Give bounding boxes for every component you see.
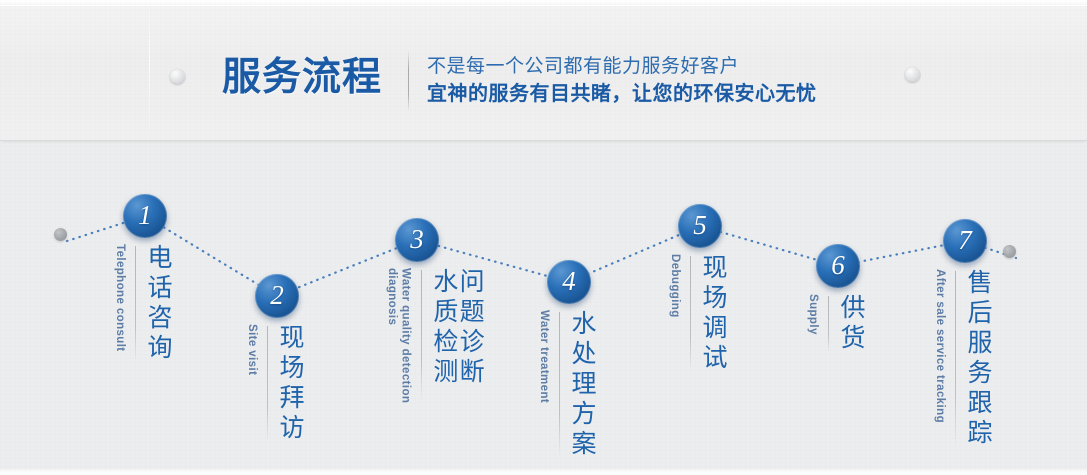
flow-step-label-en-group: Water quality detectiondiagnosis — [384, 268, 412, 403]
flow-step-number: 7 — [958, 227, 972, 254]
flow-step-label-divider — [135, 246, 136, 362]
flow-step-label-cn-group: 水处理方案 — [569, 310, 595, 460]
flow-step-label-divider — [421, 270, 422, 401]
flow-step-number: 1 — [138, 202, 152, 229]
flow-step-label-cn-group: 问题诊断水质检测 — [431, 268, 484, 388]
flow-step-label-cn: 售后服务跟踪 — [965, 269, 991, 449]
flow-step-label-en: After sale service tracking — [932, 269, 946, 423]
flow-step-label-en: Water treatment — [536, 310, 550, 403]
rivet-dot-left — [170, 69, 185, 84]
flow-step-label-6: 供货Supply — [805, 294, 864, 354]
flow-step-label-en-group: Telephone consult — [112, 244, 126, 352]
flow-step-label-divider — [828, 296, 829, 352]
flow-step-label-divider — [559, 312, 560, 458]
flow-step-node-3[interactable]: 3 — [395, 218, 439, 262]
flow-endcap-start — [54, 228, 67, 241]
flow-step-number: 3 — [410, 226, 424, 253]
flow-step-label-en: Water quality detection — [398, 268, 412, 403]
flow-step-label-4: 水处理方案Water treatment — [536, 310, 595, 460]
flow-step-label-en: Telephone consult — [112, 244, 126, 352]
flow-step-label-7: 售后服务跟踪After sale service tracking — [932, 269, 991, 449]
flow-step-number: 2 — [270, 282, 284, 309]
flow-step-label-divider — [267, 326, 268, 442]
flow-step-node-4[interactable]: 4 — [547, 260, 591, 304]
flow-step-label-1: 电话咨询Telephone consult — [112, 244, 171, 364]
flow-step-label-2: 现场拜访Site visit — [244, 324, 303, 444]
flow-step-label-en-group: Supply — [805, 294, 819, 335]
rivet-dot-right — [905, 67, 920, 82]
flow-step-label-cn: 供货 — [838, 294, 864, 354]
flow-step-label-cn-group: 电话咨询 — [145, 244, 171, 364]
flow-step-node-6[interactable]: 6 — [816, 244, 860, 288]
subtitle-line-1: 不是每一个公司都有能力服务好客户 — [427, 55, 817, 79]
title-divider — [408, 50, 409, 112]
flow-step-number: 4 — [562, 268, 576, 295]
flow-step-label-cn-group: 现场调试 — [700, 254, 726, 374]
flow-step-label-cn: 问题诊断 — [457, 268, 483, 388]
flow-step-label-cn: 水处理方案 — [569, 310, 595, 460]
service-process-banner: 服务流程 不是每一个公司都有能力服务好客户 宜神的服务有目共睹，让您的环保安心无… — [0, 0, 1087, 475]
flow-step-number: 5 — [693, 212, 707, 239]
page-title: 服务流程 — [222, 46, 382, 102]
banner-subtitle: 不是每一个公司都有能力服务好客户 宜神的服务有目共睹，让您的环保安心无忧 — [427, 55, 817, 108]
flow-step-node-2[interactable]: 2 — [255, 274, 299, 318]
flow-step-label-cn: 现场调试 — [700, 254, 726, 374]
flow-step-number: 6 — [831, 252, 845, 279]
flow-step-label-cn: 水质检测 — [431, 268, 457, 388]
flow-step-label-en: Site visit — [244, 324, 258, 375]
flow-step-label-5: 现场调试Debugging — [667, 254, 726, 374]
banner-left-edge-highlight — [149, 5, 150, 140]
process-flow-diagram: 1电话咨询Telephone consult2现场拜访Site visit3问题… — [0, 140, 1087, 475]
flow-step-label-en-group: Water treatment — [536, 310, 550, 403]
flow-step-label-en: diagnosis — [384, 268, 398, 403]
flow-step-label-cn-group: 售后服务跟踪 — [965, 269, 991, 449]
flow-endcap-end — [1003, 245, 1016, 258]
flow-step-label-en-group: Site visit — [244, 324, 258, 375]
flow-step-label-divider — [690, 256, 691, 372]
flow-step-label-en-group: Debugging — [667, 254, 681, 318]
flow-step-node-1[interactable]: 1 — [123, 194, 167, 238]
flow-step-label-3: 问题诊断水质检测Water quality detectiondiagnosis — [384, 268, 483, 403]
flow-step-label-en-group: After sale service tracking — [932, 269, 946, 423]
flow-step-label-cn-group: 现场拜访 — [277, 324, 303, 444]
flow-step-label-en: Debugging — [667, 254, 681, 318]
flow-step-label-divider — [955, 271, 956, 447]
flow-step-label-en: Supply — [805, 294, 819, 335]
flow-step-node-7[interactable]: 7 — [943, 219, 987, 263]
flow-step-label-cn: 电话咨询 — [145, 244, 171, 364]
flow-step-label-cn-group: 供货 — [838, 294, 864, 354]
subtitle-line-2: 宜神的服务有目共睹，让您的环保安心无忧 — [427, 82, 817, 108]
bottom-edge-strip — [0, 469, 1087, 475]
flow-step-node-5[interactable]: 5 — [678, 204, 722, 248]
flow-step-label-cn: 现场拜访 — [277, 324, 303, 444]
